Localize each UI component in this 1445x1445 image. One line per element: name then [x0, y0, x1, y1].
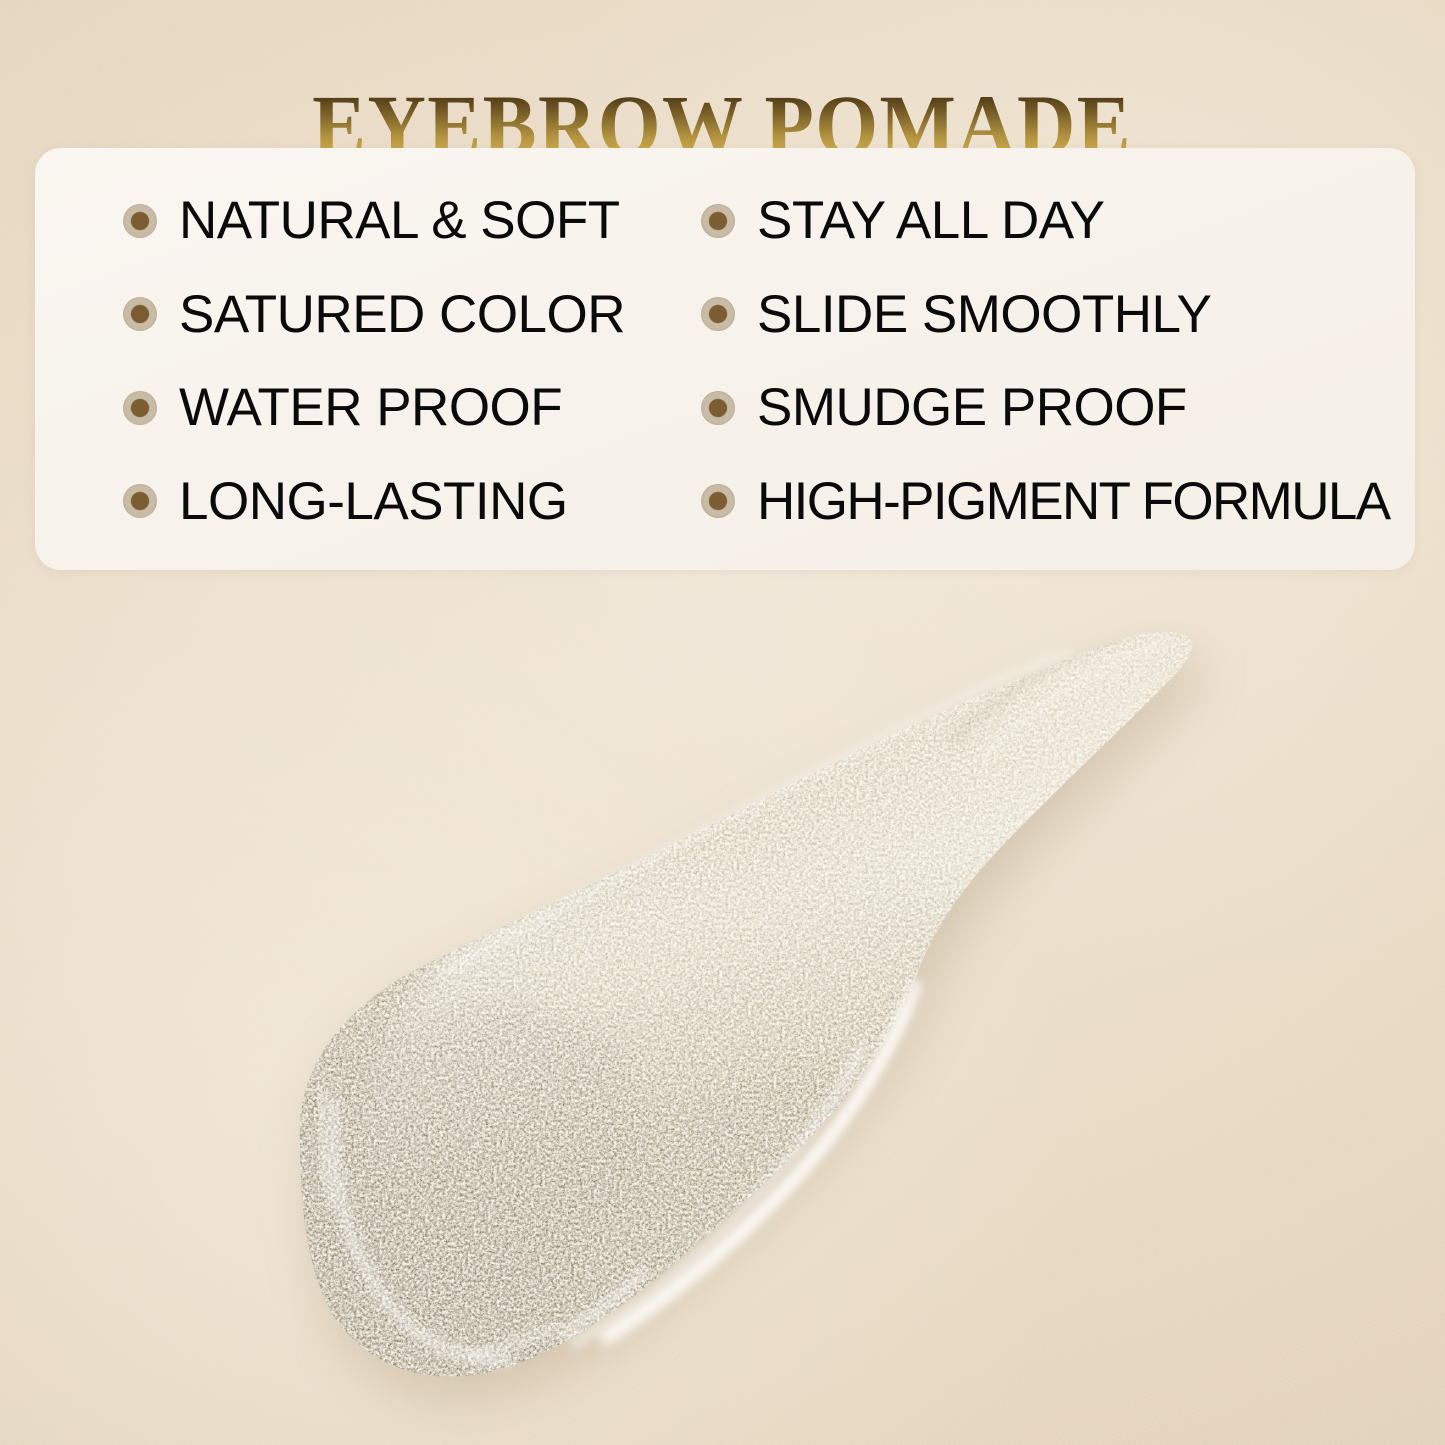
feature-label: STAY ALL DAY [757, 194, 1105, 247]
bullet-dot-icon [123, 484, 157, 518]
feature-item-water-proof: WATER PROOF [123, 381, 701, 434]
feature-item-smudge-proof: SMUDGE PROOF [701, 381, 1393, 434]
feature-label: LONG-LASTING [179, 475, 568, 528]
feature-label: NATURAL & SOFT [179, 194, 620, 247]
feature-grid: NATURAL & SOFT STAY ALL DAY SATURED COLO… [35, 148, 1415, 570]
feature-item-slide-smoothly: SLIDE SMOOTHLY [701, 288, 1393, 341]
feature-card: NATURAL & SOFT STAY ALL DAY SATURED COLO… [35, 148, 1415, 570]
bullet-dot-icon [701, 297, 735, 331]
feature-item-high-pigment-formula: HIGH-PIGMENT FORMULA [701, 475, 1393, 528]
bullet-dot-icon [701, 204, 735, 238]
feature-item-satured-color: SATURED COLOR [123, 288, 701, 341]
feature-label: WATER PROOF [179, 381, 562, 434]
feature-item-natural-soft: NATURAL & SOFT [123, 194, 701, 247]
bullet-dot-icon [123, 297, 157, 331]
product-feature-graphic: EYEBROW POMADE NATURAL & SOFT STAY ALL D… [0, 0, 1445, 1445]
feature-label: SATURED COLOR [179, 288, 625, 341]
bullet-dot-icon [123, 204, 157, 238]
feature-label: SMUDGE PROOF [757, 381, 1187, 434]
feature-label: SLIDE SMOOTHLY [757, 288, 1211, 341]
feature-label: HIGH-PIGMENT FORMULA [757, 475, 1390, 528]
bullet-dot-icon [123, 391, 157, 425]
bullet-dot-icon [701, 484, 735, 518]
feature-item-stay-all-day: STAY ALL DAY [701, 194, 1393, 247]
bullet-dot-icon [701, 391, 735, 425]
feature-item-long-lasting: LONG-LASTING [123, 475, 701, 528]
